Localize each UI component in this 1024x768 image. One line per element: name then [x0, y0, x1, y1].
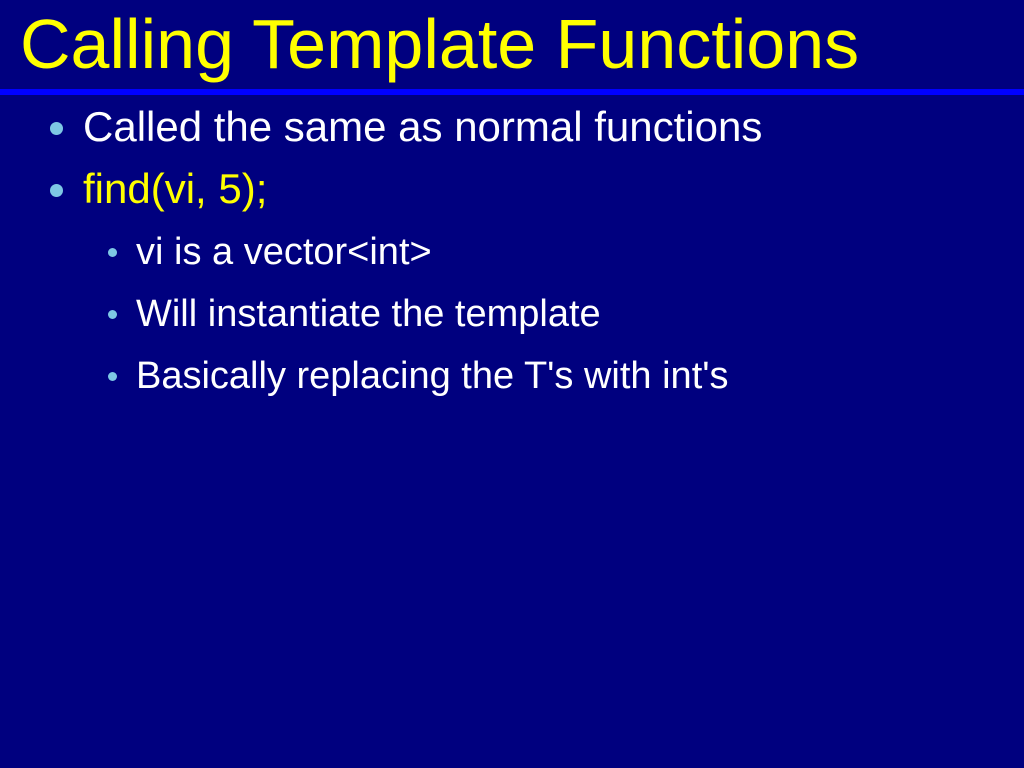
list-item: Called the same as normal functions — [0, 98, 1024, 160]
list-item: Basically replacing the T's with int's — [0, 346, 1024, 408]
bullet-text: vi is a vector<int> — [136, 222, 432, 282]
title-divider-rule — [0, 89, 1024, 95]
slide-title-area: Calling Template Functions — [0, 0, 1024, 90]
bullet-dot-icon — [50, 184, 63, 197]
slide-body: Called the same as normal functions find… — [0, 98, 1024, 408]
bullet-dot-icon — [108, 248, 117, 257]
bullet-text: Will instantiate the template — [136, 284, 601, 344]
bullet-dot-icon — [108, 372, 117, 381]
bullet-dot-icon — [50, 122, 63, 135]
bullet-text: Basically replacing the T's with int's — [136, 346, 729, 406]
list-item: find(vi, 5); — [0, 160, 1024, 222]
list-item: Will instantiate the template — [0, 284, 1024, 346]
bullet-text: Called the same as normal functions — [83, 98, 762, 156]
page-title: Calling Template Functions — [20, 0, 859, 90]
bullet-dot-icon — [108, 310, 117, 319]
list-item: vi is a vector<int> — [0, 222, 1024, 284]
presentation-slide: Calling Template Functions Called the sa… — [0, 0, 1024, 768]
bullet-text-code: find(vi, 5); — [83, 160, 267, 218]
